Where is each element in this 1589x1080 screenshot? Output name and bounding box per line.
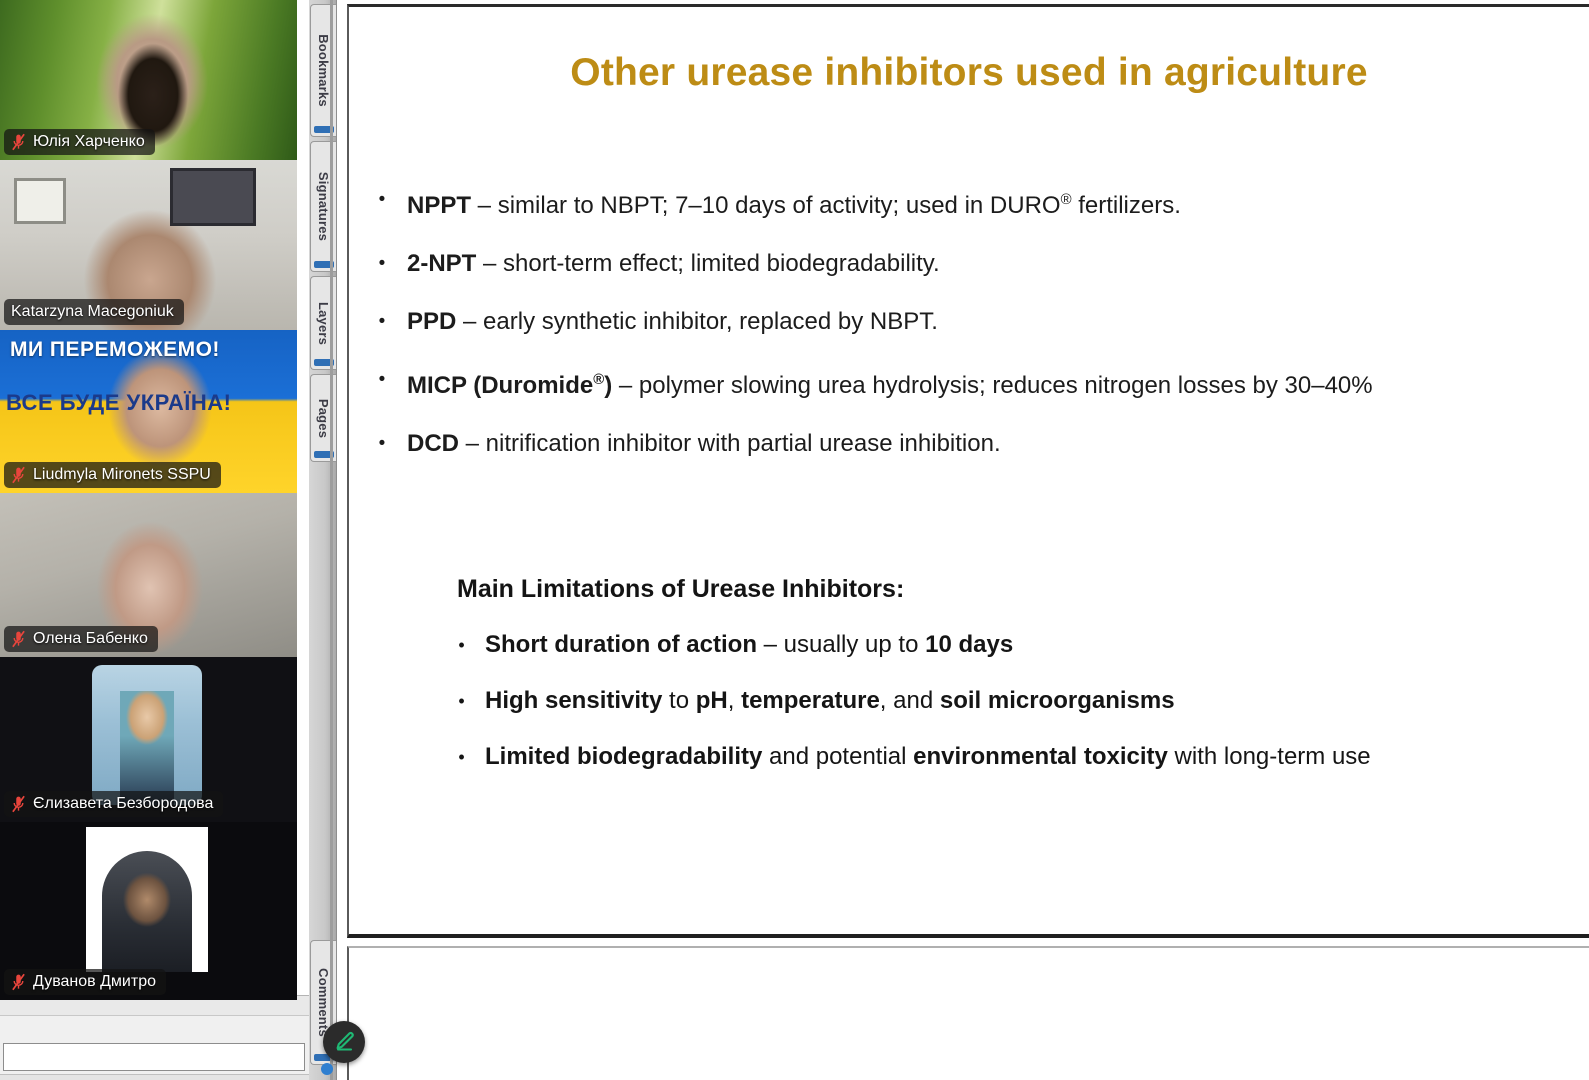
video-tile[interactable]: Дуванов Дмитро — [0, 822, 297, 1000]
annotate-fab-badge[interactable] — [321, 1063, 333, 1075]
pencil-edit-icon — [332, 1030, 356, 1054]
flag-text-line1: МИ ПЕРЕМОЖЕМО! — [10, 338, 220, 362]
participant-nameplate: Дуванов Дмитро — [4, 969, 166, 995]
nav-tab-label: Bookmarks — [316, 34, 331, 107]
microphone-muted-icon — [11, 630, 26, 648]
next-slide-page — [347, 946, 1589, 1080]
limitation-bullet: • Limited biodegradability and potential… — [457, 742, 1569, 772]
viewer-gutter — [337, 0, 347, 1080]
slide-bullet: • DCD – nitrification inhibitor with par… — [377, 429, 1549, 459]
bullet-marker: • — [457, 742, 466, 772]
limitation-text: Short duration of action – usually up to… — [485, 630, 1013, 660]
bullet-marker: • — [377, 429, 387, 459]
participant-name: Дуванов Дмитро — [33, 972, 156, 991]
document-view[interactable]: Other urease inhibitors used in agricult… — [347, 0, 1589, 1080]
participant-name: Єлизавета Безбородова — [33, 794, 213, 813]
participant-nameplate: Єлизавета Безбородова — [4, 791, 223, 817]
participant-nameplate: Katarzyna Macegoniuk — [4, 299, 184, 325]
slide-page: Other urease inhibitors used in agricult… — [347, 4, 1589, 938]
nav-tab-label: Pages — [316, 398, 331, 437]
bullet-text: PPD – early synthetic inhibitor, replace… — [407, 307, 938, 337]
slide-bullet-list: • NPPT – similar to NBPT; 7–10 days of a… — [377, 185, 1549, 487]
video-participant-rail[interactable]: Юлія Харченко Katarzyna Macegoniuk МИ ПЕ… — [0, 0, 297, 1000]
video-tile[interactable]: Katarzyna Macegoniuk — [0, 160, 297, 330]
microphone-muted-icon — [11, 133, 26, 151]
participant-name: Liudmyla Mironets SSPU — [33, 465, 211, 484]
microphone-muted-icon — [11, 973, 26, 991]
limitation-bullet: • High sensitivity to pH, temperature, a… — [457, 686, 1569, 716]
slide-bullet: • MICP (Duromide®) – polymer slowing ure… — [377, 365, 1549, 401]
annotate-fab-button[interactable] — [323, 1021, 365, 1063]
video-tile[interactable]: Єлизавета Безбородова — [0, 657, 297, 822]
microphone-muted-icon — [11, 795, 26, 813]
participant-nameplate: Юлія Харченко — [4, 129, 155, 155]
background-window — [0, 995, 310, 1080]
avatar — [92, 665, 202, 805]
avatar — [86, 827, 208, 972]
bullet-text: 2-NPT – short-term effect; limited biode… — [407, 249, 940, 279]
limitation-bullet: • Short duration of action – usually up … — [457, 630, 1569, 660]
slide-bullet: • PPD – early synthetic inhibitor, repla… — [377, 307, 1549, 337]
participant-nameplate: Олена Бабенко — [4, 626, 158, 652]
participant-nameplate: Liudmyla Mironets SSPU — [4, 462, 221, 488]
bullet-marker: • — [377, 249, 387, 279]
video-tile[interactable]: Олена Бабенко — [0, 493, 297, 657]
nav-tab-label: Layers — [316, 301, 331, 344]
bullet-marker: • — [377, 185, 387, 221]
background-window-statusbar — [0, 1074, 310, 1080]
viewer-splitter[interactable] — [330, 0, 333, 1080]
screen-root: Юлія Харченко Katarzyna Macegoniuk МИ ПЕ… — [0, 0, 1589, 1080]
limitation-text: High sensitivity to pH, temperature, and… — [485, 686, 1175, 716]
bullet-text: MICP (Duromide®) – polymer slowing urea … — [407, 365, 1373, 401]
video-tile[interactable]: МИ ПЕРЕМОЖЕМО! ВСЕ БУДЕ УКРАЇНА! Liudmyl… — [0, 330, 297, 493]
slide-bullet: • NPPT – similar to NBPT; 7–10 days of a… — [377, 185, 1549, 221]
nav-tab-label: Signatures — [316, 172, 331, 241]
microphone-muted-icon — [11, 466, 26, 484]
slide-bullet: • 2-NPT – short-term effect; limited bio… — [377, 249, 1549, 279]
slide-title: Other urease inhibitors used in agricult… — [349, 51, 1589, 95]
video-tile[interactable]: Юлія Харченко — [0, 0, 297, 160]
bullet-marker: • — [457, 686, 466, 716]
limitation-text: Limited biodegradability and potential e… — [485, 742, 1371, 772]
participant-name: Katarzyna Macegoniuk — [11, 302, 174, 321]
bullet-text: NPPT – similar to NBPT; 7–10 days of act… — [407, 185, 1181, 221]
bullet-marker: • — [457, 630, 466, 660]
bullet-marker: • — [377, 307, 387, 337]
limitations-list: • Short duration of action – usually up … — [457, 630, 1569, 772]
bullet-text: DCD – nitrification inhibitor with parti… — [407, 429, 1001, 459]
limitations-block: Main Limitations of Urease Inhibitors: •… — [457, 575, 1569, 798]
participant-name: Олена Бабенко — [33, 629, 148, 648]
bullet-marker: • — [377, 365, 387, 401]
limitations-heading: Main Limitations of Urease Inhibitors: — [457, 575, 1569, 604]
background-window-input[interactable] — [3, 1043, 305, 1071]
flag-text-line2: ВСЕ БУДЕ УКРАЇНА! — [6, 390, 231, 416]
participant-name: Юлія Харченко — [33, 132, 145, 151]
